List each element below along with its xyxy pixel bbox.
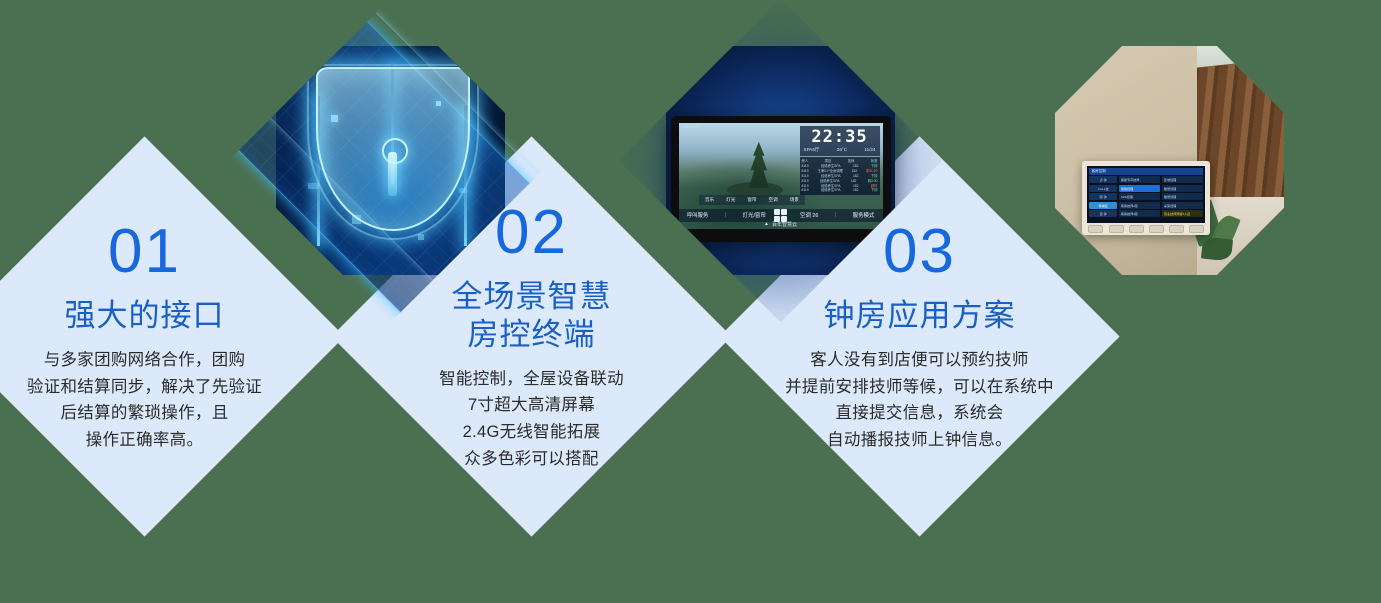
clock-meta: SPA6厅 26°C 11/24 [804, 147, 876, 153]
panel-list-item-warning[interactable]: 营业技师预留3人区 [1162, 210, 1204, 217]
cell-status: 下钟 [871, 188, 878, 193]
clock-room: SPA6厅 [804, 147, 820, 153]
table-row: 8119 经络养生SPA 182 下钟 [802, 188, 878, 193]
panel-list-item[interactable]: 楼层经理 [1162, 185, 1204, 192]
panel-hard-button[interactable] [1149, 225, 1164, 233]
feature-title-01: 强大的接口 [0, 296, 345, 334]
feature-description-01: 与多家团购网络合作，团购 验证和结算同步，解决了先验证 后结算的繁琐操作，且 操… [0, 346, 345, 453]
clock-date: 11/24 [864, 147, 875, 153]
smart-room-tablet-illustration: CSIZBO 22:35 SPA6厅 26°C 11/24 房人 项目 [666, 46, 895, 275]
feature-card-01-content: 01 强大的接口 与多家团购网络合作，团购 验证和结算同步，解决了先验证 后结算… [0, 220, 345, 453]
panel-title: 客房控制 [1089, 168, 1203, 175]
panel-list-item[interactable]: 楼层经理 [1162, 193, 1204, 200]
tablet-screen[interactable]: CSIZBO 22:35 SPA6厅 26°C 11/24 房人 项目 [679, 123, 883, 229]
tablet-media-bar[interactable]: 音乐 灯光 窗帘 空调 场景 [699, 195, 805, 205]
panel-key-dianzhong[interactable]: 点 钟 [1089, 176, 1116, 183]
tab-ac[interactable]: 空调 26 [800, 211, 818, 219]
feature-description-03: 客人没有到店便可以预约技师 并提前安排技师等候，可以在系统中 直接提交信息，系统… [719, 346, 1119, 453]
panel-key-zhizhong[interactable]: 直 钟 [1089, 210, 1116, 217]
brand-name: 百年智慧云 [772, 221, 797, 228]
lake-tree [746, 142, 772, 188]
tablet-brand-label: CSIZBO [683, 124, 702, 129]
feature-number-01: 01 [0, 220, 345, 282]
panel-side-keys[interactable]: 点 钟 CALL技 圈 钟 停钟区 直 钟 [1089, 176, 1116, 221]
panel-key-tingzhong[interactable]: 停钟区 [1089, 202, 1116, 209]
panel-list-right[interactable]: 区域经理 楼层经理 楼层经理 采某经理 营业技师预留3人区 [1162, 176, 1204, 221]
cell-item: 经络养生SPA [821, 188, 841, 193]
infographic-canvas: 01 强大的接口 与多家团购网络合作，团购 验证和结算同步，解决了先验证 后结算… [0, 0, 1381, 603]
app-grid-cell [774, 209, 780, 215]
clock-temp: 26°C [837, 147, 847, 153]
media-button-scene[interactable]: 场景 [790, 197, 799, 203]
panel-hard-buttons[interactable] [1088, 225, 1204, 233]
media-button-ac[interactable]: 空调 [769, 197, 778, 203]
tablet-service-table: 房人 项目 技师 状态 8119 经络养生SPA 182 下钟 8119 [800, 157, 880, 196]
cell-tech: 182 [853, 188, 859, 193]
panel-list-item[interactable]: 客房技师2区 [1119, 202, 1161, 209]
media-button-light[interactable]: 灯光 [726, 197, 735, 203]
clock-time: 22:35 [804, 129, 876, 146]
media-button-curtain[interactable]: 窗帘 [747, 197, 756, 203]
media-button-music[interactable]: 音乐 [705, 197, 714, 203]
tab-separator-1: | [725, 212, 726, 218]
security-shield-circuit-illustration [276, 46, 505, 275]
panel-hard-button[interactable] [1189, 225, 1204, 233]
key-stem-icon [388, 152, 397, 196]
panel-list-item[interactable]: SPA经理 [1119, 193, 1161, 200]
panel-hard-button[interactable] [1109, 225, 1124, 233]
tablet-device[interactable]: CSIZBO 22:35 SPA6厅 26°C 11/24 房人 项目 [671, 116, 891, 242]
panel-list-item[interactable]: 采某经理 [1162, 202, 1204, 209]
tablet-brand-bar: ▲ 百年智慧云 [679, 220, 883, 229]
feature-description-02: 智能控制，全屋设备联动 7寸超大高清屏幕 2.4G无线智能拓展 众多色彩可以搭配 [331, 365, 731, 472]
panel-lists[interactable]: 保健专享技师 保健经理 SPA经理 客房技师2区 客房技师3区 区域经理 楼层经… [1119, 176, 1204, 221]
wall-control-panel-photo: 客房控制 点 钟 CALL技 圈 钟 停钟区 直 钟 保健专享技师 [1055, 46, 1284, 275]
panel-screen[interactable]: 客房控制 点 钟 CALL技 圈 钟 停钟区 直 钟 保健专享技师 [1087, 166, 1205, 223]
panel-hard-button[interactable] [1129, 225, 1144, 233]
tab-service-mode[interactable]: 服务模式 [853, 211, 875, 219]
app-grid-cell [781, 209, 787, 215]
panel-list-left[interactable]: 保健专享技师 保健经理 SPA经理 客房技师2区 客房技师3区 [1119, 176, 1161, 221]
tab-call-service[interactable]: 呼叫服务 [687, 211, 709, 219]
tablet-clock-widget: 22:35 SPA6厅 26°C 11/24 [800, 126, 880, 157]
tab-light-curtain[interactable]: 灯光/窗帘 [743, 211, 766, 219]
panel-hard-button[interactable] [1169, 225, 1184, 233]
panel-list-item[interactable]: 保健专享技师 [1119, 176, 1161, 183]
panel-body: 点 钟 CALL技 圈 钟 停钟区 直 钟 保健专享技师 保健经理 SPA经理 [1089, 175, 1203, 221]
panel-key-quanzhong[interactable]: 圈 钟 [1089, 193, 1116, 200]
panel-key-call[interactable]: CALL技 [1089, 185, 1116, 192]
cell-room: 8119 [802, 188, 809, 193]
panel-list-item[interactable]: 客房技师3区 [1119, 210, 1161, 217]
panel-hard-button[interactable] [1088, 225, 1103, 233]
wall-control-panel-device[interactable]: 客房控制 点 钟 CALL技 圈 钟 停钟区 直 钟 保健专享技师 [1082, 161, 1210, 235]
brand-logo-icon: ▲ [764, 221, 769, 227]
panel-list-item[interactable]: 区域经理 [1162, 176, 1204, 183]
panel-list-item-selected[interactable]: 保健经理 [1119, 185, 1161, 192]
tab-separator-3: | [835, 212, 836, 218]
